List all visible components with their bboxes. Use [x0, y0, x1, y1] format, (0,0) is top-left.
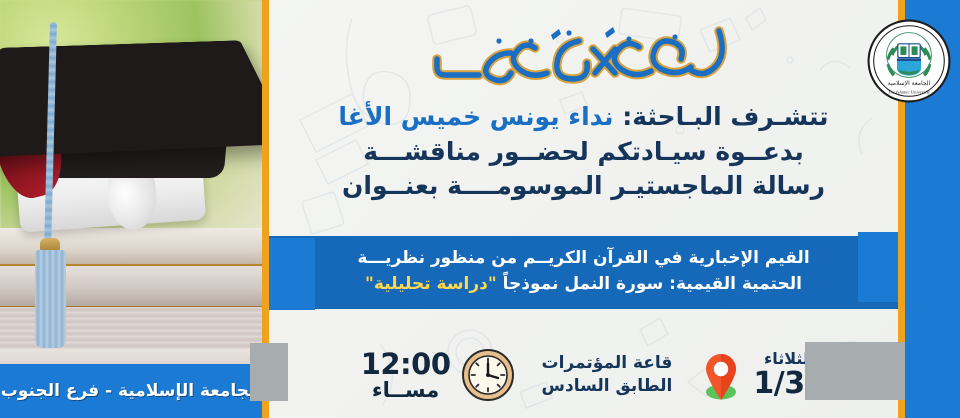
thesis-title-quoted: "دراسة تحليلية"	[365, 274, 497, 294]
headline-block: تتشـرف البـاحثة: نداء يونس خميس الأغا بد…	[283, 100, 884, 204]
thesis-title-banner: القيم الإخبارية في القرآن الكريــم من من…	[269, 236, 898, 309]
headline-prefix: تتشـرف البـاحثة:	[622, 102, 828, 131]
headline-line-2: بدعــوة سيـادتكم لحضــور مناقشـــة	[283, 135, 884, 170]
content-column: دعوة خاصة	[269, 0, 898, 418]
headline-line-3: رسالة الماجستيـر الموسومــــة بعنــوان	[283, 169, 884, 204]
headline-line-1: تتشـرف البـاحثة: نداء يونس خميس الأغا	[283, 100, 884, 135]
invitation-poster: الجامعة الإسلامية - فرع الجنوب الجامعة ا…	[0, 0, 960, 418]
event-info-row: 2023 الثلاثاء 1/31 قاعة المؤتمرات الطابق…	[269, 332, 898, 418]
venue-line-2: الطابق السادس	[542, 375, 673, 398]
thesis-title-line-1: القيم الإخبارية في القرآن الكريــم من من…	[285, 245, 882, 271]
time-period: مســاء	[361, 379, 451, 401]
thesis-title-line-2: الحتمية القيمية: سورة النمل نموذجاً "درا…	[285, 271, 882, 297]
graduation-cap	[0, 40, 262, 158]
accent-block-blue-left	[269, 238, 315, 310]
calligraphy-title: دعوة خاصة	[269, 8, 898, 100]
svg-text:الجامعة الإسلامية: الجامعة الإسلامية	[888, 80, 931, 87]
graduation-photo: الجامعة الإسلامية - فرع الجنوب	[0, 0, 262, 418]
svg-text:The Islamic University: The Islamic University	[888, 91, 931, 96]
time-value: 12:00	[361, 349, 451, 379]
calligraphy-title-artwork: دعوة خاصة	[419, 11, 749, 97]
time-group: 12:00 مســاء	[361, 347, 516, 403]
university-name-text: الجامعة الإسلامية - فرع الجنوب	[1, 381, 261, 401]
islamic-university-seal-icon: الجامعة الإسلامية The Islamic University	[866, 18, 952, 104]
accent-block-gray-left	[250, 343, 288, 401]
researcher-name: نداء يونس خميس الأغا	[338, 102, 613, 131]
accent-block-gray-right	[805, 342, 905, 400]
venue-text: قاعة المؤتمرات الطابق السادس	[542, 352, 673, 398]
clock-icon	[460, 347, 516, 403]
university-name-bar: الجامعة الإسلامية - فرع الجنوب	[0, 364, 262, 418]
location-pin-icon	[698, 349, 744, 401]
thesis-title-line-2-prefix: الحتمية القيمية: سورة النمل نموذجاً	[503, 274, 802, 294]
time-text: 12:00 مســاء	[361, 349, 451, 401]
tassel	[35, 250, 66, 348]
venue-line-1: قاعة المؤتمرات	[542, 352, 673, 375]
